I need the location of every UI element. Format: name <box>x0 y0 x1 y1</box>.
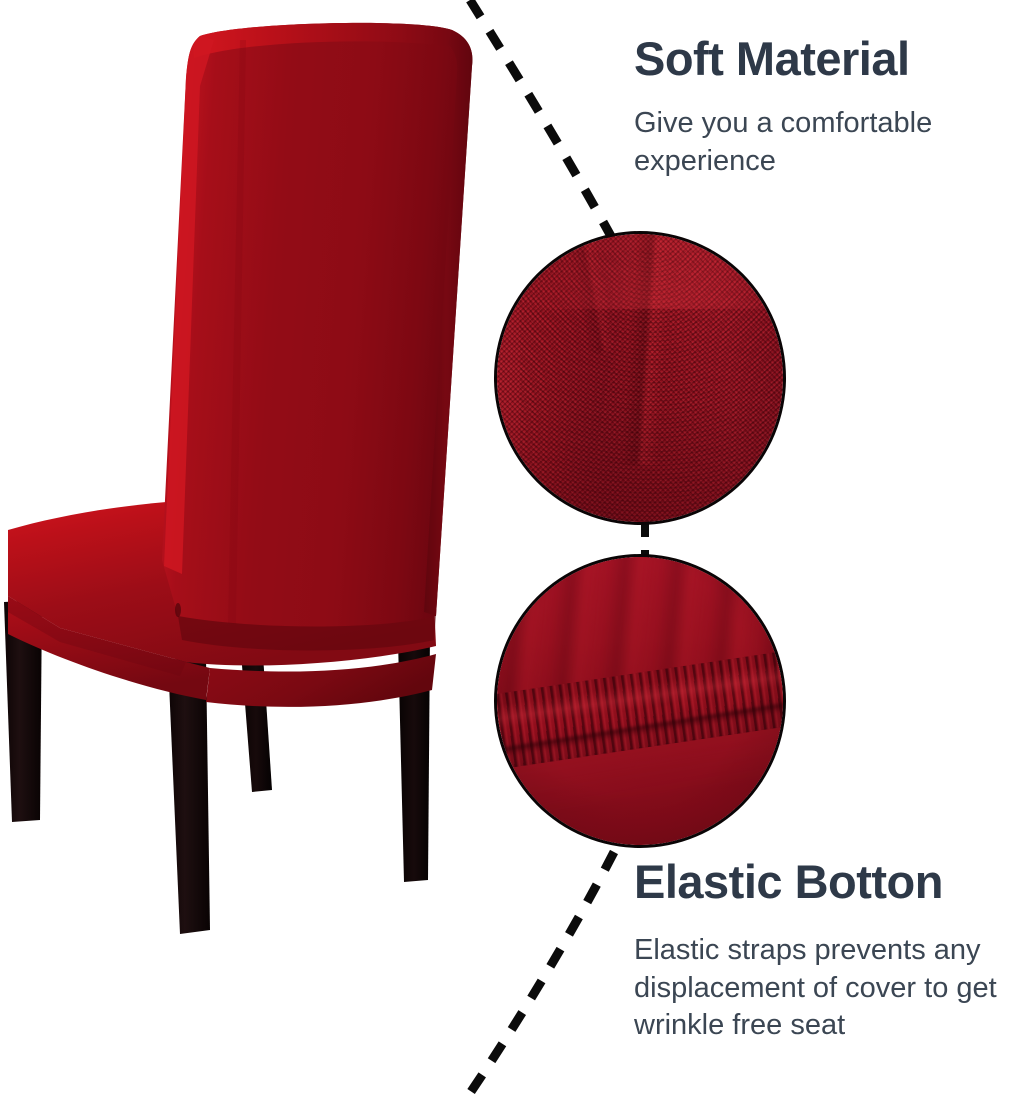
elastic-hem-swatch <box>494 554 786 848</box>
elastic-hem-image <box>497 557 783 845</box>
leader-line-top <box>400 0 660 254</box>
fabric-texture-image <box>497 234 783 522</box>
leader-line-bottom <box>400 830 660 1100</box>
feature-elastic-bottom: Elastic Botton Elastic straps prevents a… <box>634 858 1030 1045</box>
feature-title-soft-material: Soft Material <box>634 35 1030 84</box>
fabric-texture-swatch <box>494 231 786 525</box>
feature-title-elastic-bottom: Elastic Botton <box>634 858 1030 907</box>
feature-description-soft-material: Give you a comfortable experience <box>634 105 1030 180</box>
infographic-canvas: Soft Material Give you a comfortable exp… <box>0 0 1030 1100</box>
feature-soft-material: Soft Material Give you a comfortable exp… <box>634 35 1030 180</box>
feature-description-elastic-bottom: Elastic straps prevents any displacement… <box>634 932 1030 1045</box>
